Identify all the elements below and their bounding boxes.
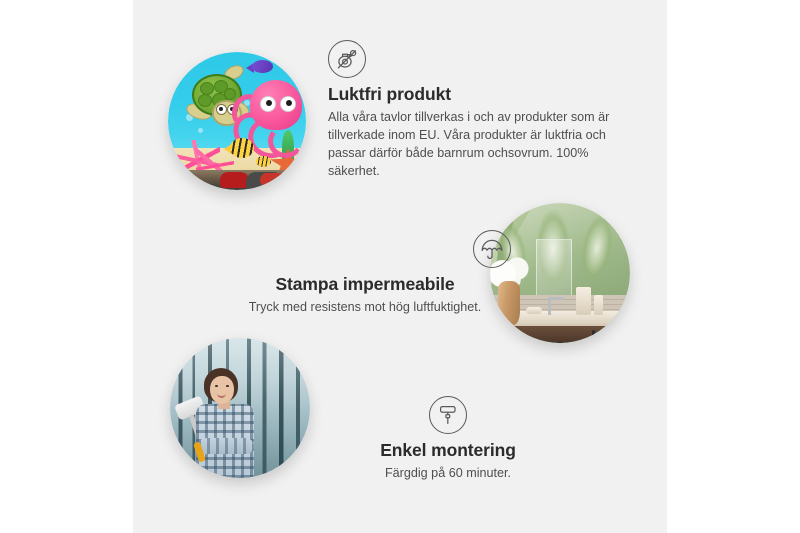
feature-description: Tryck med resistens mot hög luftfuktighe… [205, 299, 525, 317]
eye [226, 385, 229, 387]
octopus-pupil [286, 100, 292, 106]
reef-rock [260, 173, 286, 187]
soap-bottle [594, 295, 603, 315]
folded-arms [198, 438, 254, 454]
faucet [548, 297, 551, 315]
feature-odour-free: Luktfri produkt Alla våra tavlor tillver… [328, 40, 628, 181]
turtle-shell-spot [200, 82, 214, 95]
yellow-fish-icon [230, 138, 254, 158]
no-fragrance-icon [328, 40, 366, 78]
feature-description: Alla våra tavlor tillverkas i och av pro… [328, 109, 628, 181]
turtle-shell-spot [224, 88, 236, 100]
wooden-vanity [504, 326, 630, 343]
cabinet-handle[interactable] [592, 330, 595, 343]
feature-title: Stampa impermeabile [205, 274, 525, 295]
umbrella-icon [473, 230, 511, 268]
drawer-divider [504, 342, 630, 343]
face [210, 376, 234, 404]
bubble-icon [198, 128, 203, 133]
feature-description: Färgdig på 60 minuter. [318, 465, 578, 483]
feature-title: Enkel montering [318, 440, 578, 461]
feature-easy-mounting: Enkel montering Färgdig på 60 minuter. [318, 396, 578, 483]
feature-water-resistant: Stampa impermeabile Tryck med resistens … [205, 230, 525, 317]
turtle-pupil [219, 107, 223, 111]
product-image-woman-forest-wallpaper [170, 338, 310, 478]
feature-title: Luktfri produkt [328, 84, 628, 105]
mirror [536, 239, 572, 299]
soap-bottle [576, 287, 591, 315]
content-panel: Luktfri produkt Alla våra tavlor tillver… [133, 0, 667, 533]
soap-dish [526, 307, 542, 314]
paint-roller-icon [429, 396, 467, 434]
small-fish-icon [256, 156, 271, 167]
octopus-pupil [266, 100, 272, 106]
product-image-underwater-scene [168, 52, 306, 190]
turtle-shell-spot [198, 94, 212, 107]
eye [215, 385, 218, 387]
screenshot-stage: Luktfri produkt Alla våra tavlor tillver… [0, 0, 800, 533]
purple-fish-icon [252, 60, 273, 73]
